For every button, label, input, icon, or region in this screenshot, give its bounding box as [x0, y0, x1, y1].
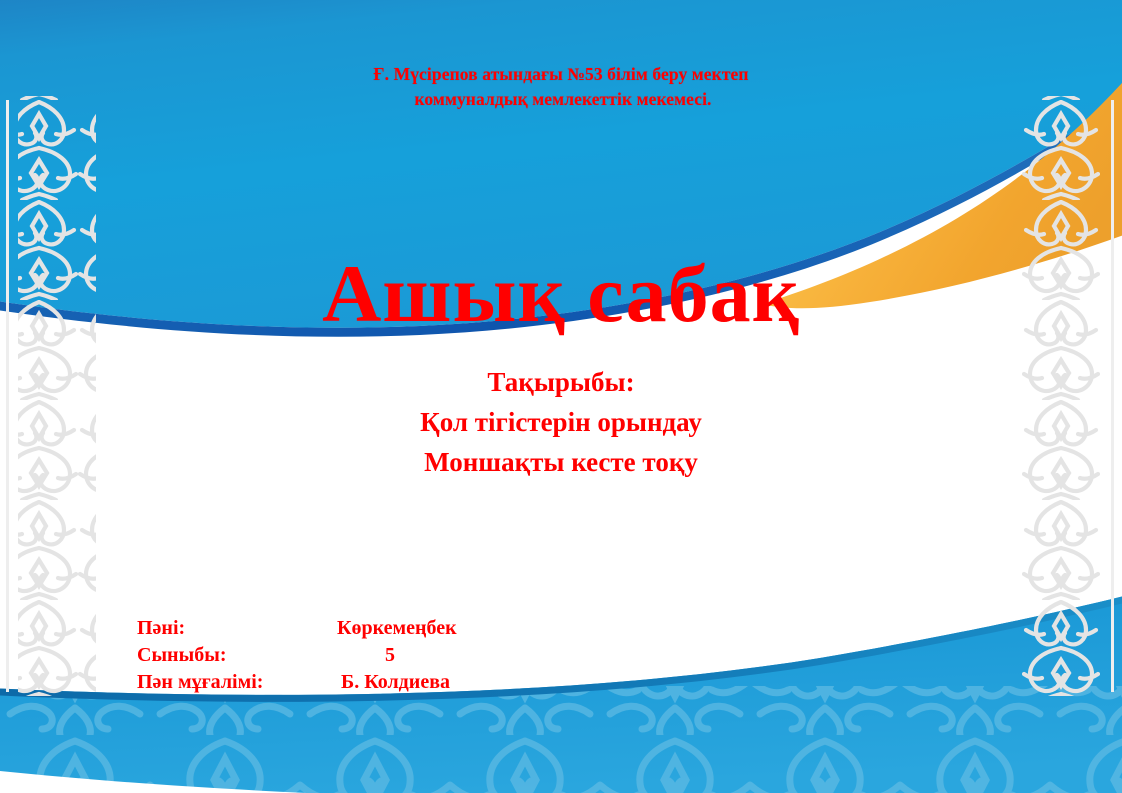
school-name-line-1: Ғ. Мүсірепов атындағы №53 білім беру мек…: [0, 62, 1122, 87]
page-title: Ашық сабақ: [0, 248, 1122, 340]
school-name-line-2: коммуналдық мемлекеттік мекемесі.: [0, 87, 1122, 112]
info-value-grade: 5: [337, 642, 395, 669]
lesson-topic-block: Тақырыбы: Қол тігістерін орындау Моншақт…: [0, 362, 1122, 482]
topic-label: Тақырыбы:: [0, 362, 1122, 402]
info-value-teacher: Б. Колдиева: [337, 669, 450, 696]
bottom-left-white-wedge: [0, 770, 640, 793]
info-label-grade: Сыныбы:: [137, 642, 337, 669]
info-value-subject: Көркемеңбек: [337, 615, 457, 642]
lesson-info-block: Пәні:Көркемеңбек Сыныбы:5 Пән мұғалімі:Б…: [137, 615, 657, 696]
info-row-grade: Сыныбы:5: [137, 642, 657, 669]
school-name-header: Ғ. Мүсірепов атындағы №53 білім беру мек…: [0, 62, 1122, 112]
info-label-subject: Пәні:: [137, 615, 337, 642]
topic-line-1: Қол тігістерін орындау: [0, 402, 1122, 442]
topic-line-2: Моншақты кесте тоқу: [0, 442, 1122, 482]
info-row-teacher: Пән мұғалімі:Б. Колдиева: [137, 669, 657, 696]
bottom-band-ornament: [0, 686, 1122, 793]
presentation-slide: Ғ. Мүсірепов атындағы №53 білім беру мек…: [0, 0, 1122, 793]
info-label-teacher: Пән мұғалімі:: [137, 669, 337, 696]
info-row-subject: Пәні:Көркемеңбек: [137, 615, 657, 642]
